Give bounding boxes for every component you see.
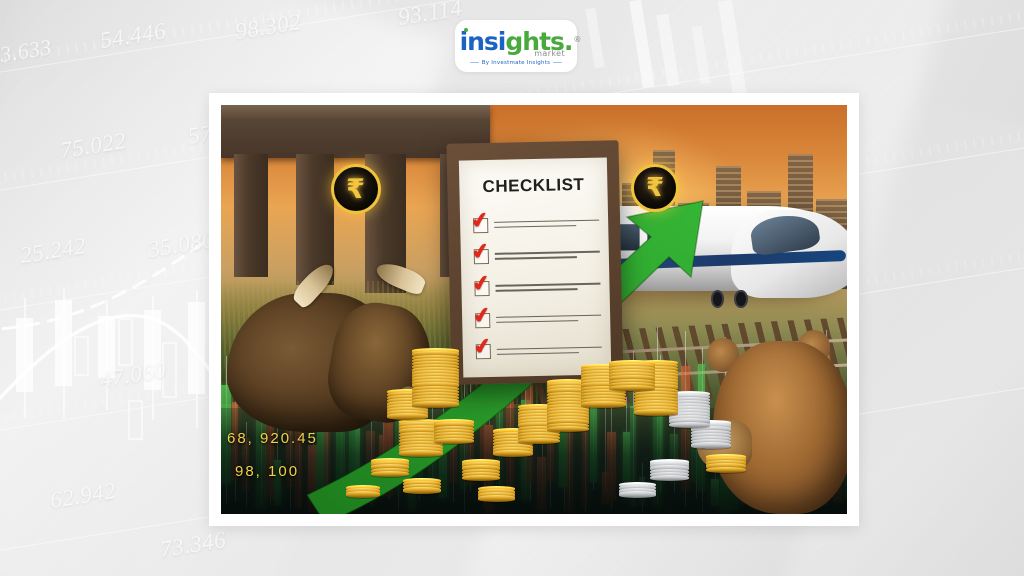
checklist-rule [495, 225, 577, 228]
gold-coin [412, 401, 459, 408]
gold-coin [346, 491, 380, 498]
checklist-row[interactable]: ✔ [474, 241, 600, 270]
train-window [647, 224, 674, 250]
checklist-item-lines [498, 343, 603, 359]
background-candle [16, 318, 33, 392]
background-candle [585, 8, 604, 69]
checklist-row[interactable]: ✔ [475, 273, 601, 302]
silver-coin [691, 442, 731, 449]
gold-coin [706, 467, 746, 474]
checklist-rule [498, 351, 580, 354]
coin-stack [609, 358, 655, 391]
checklist-rule [496, 288, 578, 291]
checklist-row[interactable]: ✔ [476, 336, 602, 365]
gold-coin [493, 450, 533, 457]
checklist-item-lines [495, 216, 600, 232]
background-number: 93.114 [396, 0, 464, 31]
gold-coin [371, 471, 409, 478]
check-icon: ✔ [473, 336, 496, 359]
check-icon: ✔ [472, 272, 495, 295]
tagline-text: By Investmate Insights [482, 60, 551, 66]
checklist-rule [497, 314, 602, 318]
logo-period: . [564, 27, 573, 56]
coin-stack [619, 480, 657, 497]
coin-stack [462, 458, 500, 482]
coin-stack [371, 457, 409, 478]
ticker-number: 98, 100 [235, 463, 299, 480]
logo-i-dot [464, 28, 468, 32]
checklist-checkbox[interactable]: ✔ [475, 249, 490, 264]
checklist-checkbox[interactable]: ✔ [476, 312, 491, 327]
gold-coin [581, 401, 626, 408]
checklist-rule [497, 320, 579, 323]
logo-text-secondary: ghts [505, 27, 564, 56]
gold-coin [399, 450, 443, 457]
checklist-clipboard: CHECKLIST ✔✔✔✔✔ [447, 140, 624, 385]
background-candle-hollow [118, 318, 133, 366]
background-candle [188, 302, 205, 394]
silver-coin [650, 475, 689, 482]
coin-stack [434, 418, 474, 445]
checklist-rule [496, 251, 601, 255]
background-candle [55, 300, 72, 386]
brand-logo-badge[interactable]: insights. ® market By Investmate Insight… [455, 20, 577, 72]
checklist-rule [496, 256, 578, 259]
gold-coin [547, 426, 590, 433]
logo-registered-mark: ® [573, 27, 580, 52]
logo-wordmark: insights. ® [460, 29, 573, 54]
rupee-coin-left: ₹ [331, 164, 381, 214]
logo-tagline: By Investmate Insights [470, 60, 563, 66]
checklist-rule [496, 283, 601, 287]
bull-horn-right [374, 258, 428, 296]
coin-stack [650, 458, 689, 482]
checklist-rule [498, 346, 603, 350]
checklist-rule [495, 219, 600, 223]
check-icon: ✔ [470, 209, 493, 232]
background-candle-hollow [128, 400, 143, 440]
flyover-railing [221, 105, 490, 119]
checklist-row[interactable]: ✔ [476, 305, 602, 334]
gold-coin [634, 409, 678, 416]
coin-stack [346, 483, 380, 497]
rupee-coin-right: ₹ [631, 164, 679, 212]
checklist-item-lines [496, 247, 601, 263]
clipboard-paper: CHECKLIST ✔✔✔✔✔ [459, 157, 612, 377]
check-icon: ✔ [472, 304, 495, 327]
featured-image-card: CHECKLIST ✔✔✔✔✔ ₹ ₹ 68, 920.4598, 100 [209, 93, 859, 526]
coin-stack [706, 453, 746, 474]
gold-coin [403, 487, 442, 494]
coin-stack [403, 476, 442, 493]
rupee-symbol: ₹ [346, 174, 365, 205]
coin-stack [478, 484, 516, 501]
checklist-checkbox[interactable]: ✔ [474, 217, 489, 232]
gold-coin [387, 413, 428, 420]
gold-coin [478, 495, 516, 502]
coin-stack [412, 347, 459, 408]
silver-coin [669, 422, 710, 429]
checklist-item-lines [496, 279, 601, 295]
check-icon: ✔ [471, 241, 494, 264]
ticker-number: 68, 920.45 [227, 430, 318, 447]
rupee-symbol: ₹ [646, 173, 664, 203]
checklist-checkbox[interactable]: ✔ [475, 281, 490, 296]
checklist-item-lines [497, 311, 602, 327]
silver-coin [619, 491, 657, 498]
checklist-checkbox[interactable]: ✔ [477, 344, 492, 359]
gold-coin [462, 475, 500, 482]
tagline-rule-right [553, 62, 562, 63]
checklist-title: CHECKLIST [460, 175, 608, 198]
checklist-row[interactable]: ✔ [474, 209, 600, 238]
featured-image: CHECKLIST ✔✔✔✔✔ ₹ ₹ 68, 920.4598, 100 [221, 105, 847, 514]
background-candle-hollow [74, 336, 89, 376]
tagline-rule-left [470, 62, 479, 63]
